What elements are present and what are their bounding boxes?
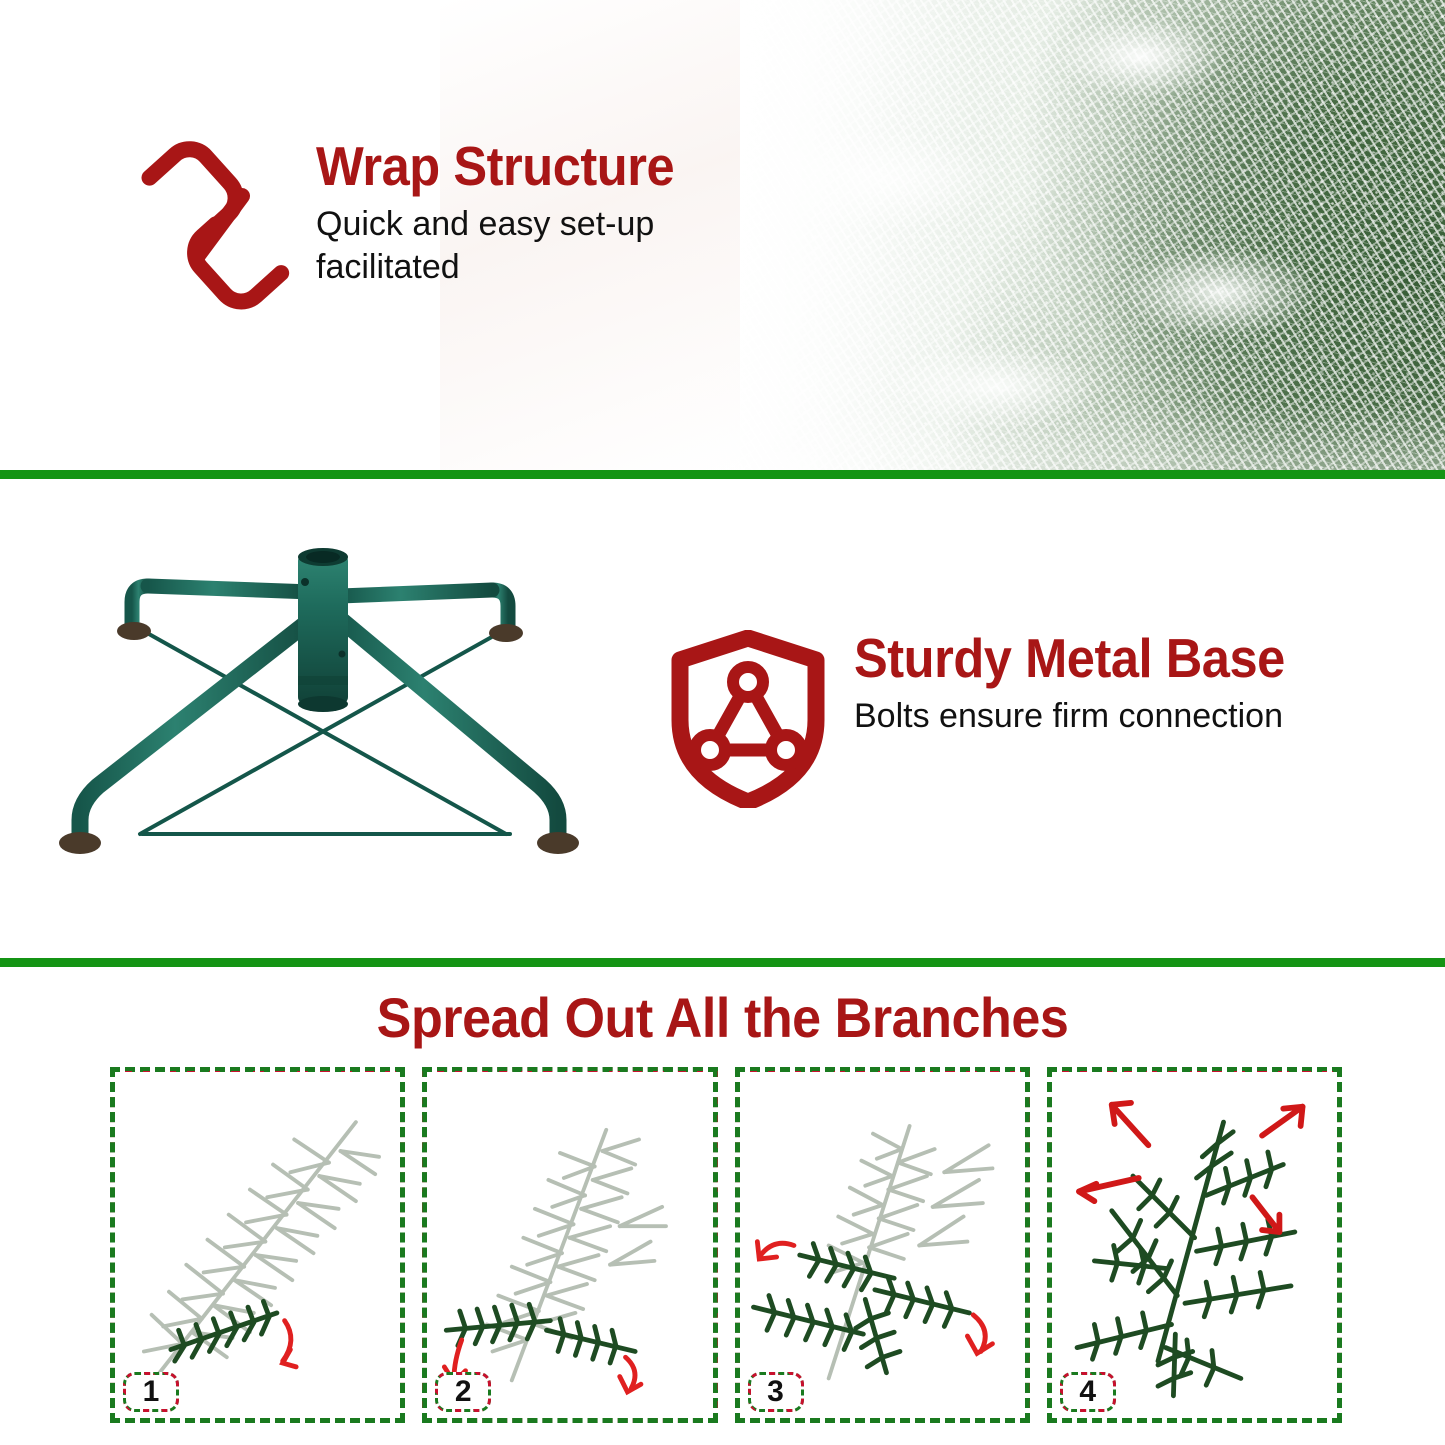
step-number-badge: 4 bbox=[1060, 1372, 1116, 1412]
step-number-badge: 2 bbox=[435, 1372, 491, 1412]
branch-step-3-art bbox=[740, 1072, 1025, 1415]
step-panel: 2 bbox=[422, 1067, 717, 1423]
shield-check-icon bbox=[668, 630, 828, 813]
section-divider-top bbox=[0, 470, 1445, 479]
feature-text-group: Sturdy Metal Base Bolts ensure firm conn… bbox=[854, 630, 1322, 738]
step-panel: 3 bbox=[735, 1067, 1030, 1423]
step-panel: 1 bbox=[110, 1067, 405, 1423]
section-wrap-structure: Wrap Structure Quick and easy set-up fac… bbox=[0, 0, 1445, 472]
photo-bottom-fade bbox=[645, 402, 1445, 472]
feature-text-group: Wrap Structure Quick and easy set-up fac… bbox=[316, 138, 746, 290]
steps-section-title: Spread Out All the Branches bbox=[51, 985, 1395, 1050]
section-divider-bottom bbox=[0, 958, 1445, 967]
step-panel-row: 1 bbox=[110, 1067, 1342, 1423]
feature-title: Sturdy Metal Base bbox=[854, 630, 1285, 687]
step-panel: 4 bbox=[1047, 1067, 1342, 1423]
badge-dash-red bbox=[748, 1372, 804, 1412]
badge-dash-red bbox=[123, 1372, 179, 1412]
feature-title: Wrap Structure bbox=[316, 138, 712, 195]
feature-description: Bolts ensure firm connection bbox=[854, 695, 1284, 738]
branch-step-1-art bbox=[115, 1072, 400, 1415]
badge-dash-red bbox=[1060, 1372, 1116, 1412]
step-number-badge: 1 bbox=[123, 1372, 179, 1412]
branch-step-4-art bbox=[1052, 1072, 1337, 1415]
branch-step-2-art bbox=[427, 1072, 712, 1415]
flocked-tree-photo bbox=[645, 0, 1445, 472]
feature-sturdy-metal-base: Sturdy Metal Base Bolts ensure firm conn… bbox=[668, 630, 1322, 813]
feature-description: Quick and easy set-up facilitated bbox=[316, 203, 746, 289]
chain-link-icon bbox=[140, 138, 290, 318]
feature-wrap-structure: Wrap Structure Quick and easy set-up fac… bbox=[140, 138, 746, 318]
step-number-badge: 3 bbox=[748, 1372, 804, 1412]
section-sturdy-metal-base: Sturdy Metal Base Bolts ensure firm conn… bbox=[0, 479, 1445, 958]
section-spread-branches: Spread Out All the Branches bbox=[0, 967, 1445, 1445]
badge-dash-red bbox=[435, 1372, 491, 1412]
metal-stand-photo bbox=[40, 534, 600, 874]
